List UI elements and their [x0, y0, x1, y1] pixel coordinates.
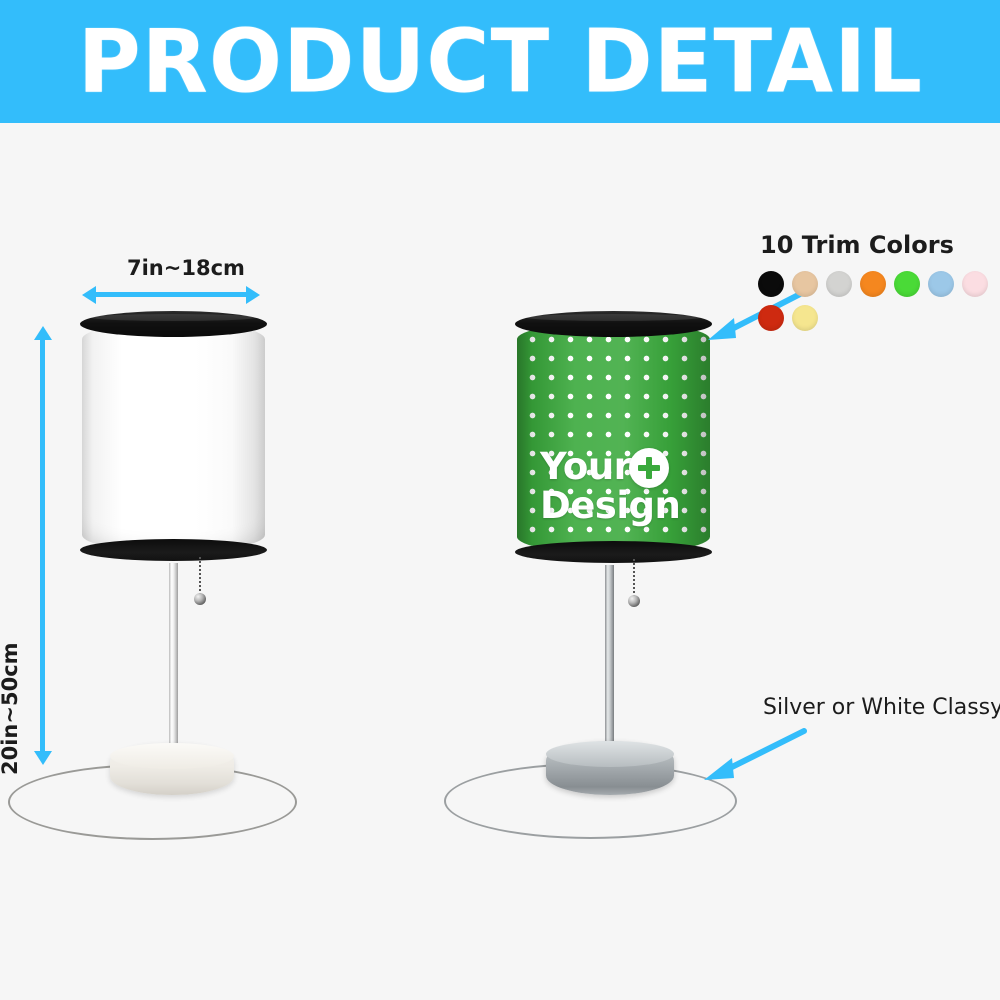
lampshade-green-bottom-trim	[515, 541, 712, 563]
trim-swatch-light-blue[interactable]	[928, 271, 954, 297]
lampshade-green: Your Design	[517, 322, 710, 554]
add-design-plus-icon[interactable]	[629, 448, 669, 488]
pull-chain-ball-green[interactable]	[628, 595, 640, 607]
trim-colors-panel: 10 Trim Colors	[758, 231, 1000, 331]
width-dimension-arrow	[95, 292, 247, 297]
trim-swatch-red[interactable]	[758, 305, 784, 331]
width-dimension-label: 7in~18cm	[127, 256, 245, 280]
lamp-pole-silver	[605, 565, 614, 765]
trim-swatch-pink[interactable]	[962, 271, 988, 297]
lampshade-white-body	[82, 322, 265, 552]
trim-colors-title: 10 Trim Colors	[760, 231, 1000, 259]
height-dimension-label: 20in~50cm	[0, 642, 22, 775]
height-dimension-arrow	[40, 339, 45, 752]
trim-colors-swatch-grid[interactable]	[758, 271, 1000, 331]
header-banner: PRODUCT DETAIL	[0, 0, 1000, 123]
lamp-base-white-top	[110, 743, 234, 769]
pull-chain-green[interactable]	[633, 559, 635, 599]
trim-swatch-orange[interactable]	[860, 271, 886, 297]
trim-swatch-tan[interactable]	[792, 271, 818, 297]
base-finish-callout-label: Silver or White Classy	[763, 695, 1000, 720]
trim-swatch-light-gray[interactable]	[826, 271, 852, 297]
trim-swatch-green[interactable]	[894, 271, 920, 297]
page-title: PRODUCT DETAIL	[77, 18, 922, 105]
product-detail-stage: 7in~18cm 20in~50cm	[0, 123, 1000, 1000]
lamp-pole-white	[169, 563, 178, 767]
lampshade-white	[82, 322, 265, 552]
lampshade-green-top-trim	[515, 311, 712, 337]
pull-chain-white[interactable]	[199, 557, 201, 597]
base-finish-callout-arrow-icon	[688, 718, 818, 788]
design-text-line-2: Design	[540, 486, 680, 525]
trim-swatch-yellow[interactable]	[792, 305, 818, 331]
lampshade-white-bottom-trim	[80, 539, 267, 561]
lampshade-white-top-trim	[80, 311, 267, 337]
pull-chain-ball-white[interactable]	[194, 593, 206, 605]
trim-swatch-black[interactable]	[758, 271, 784, 297]
lamp-base-silver	[546, 741, 674, 795]
lamp-base-silver-top	[546, 741, 674, 767]
lamp-base-white	[110, 743, 234, 795]
